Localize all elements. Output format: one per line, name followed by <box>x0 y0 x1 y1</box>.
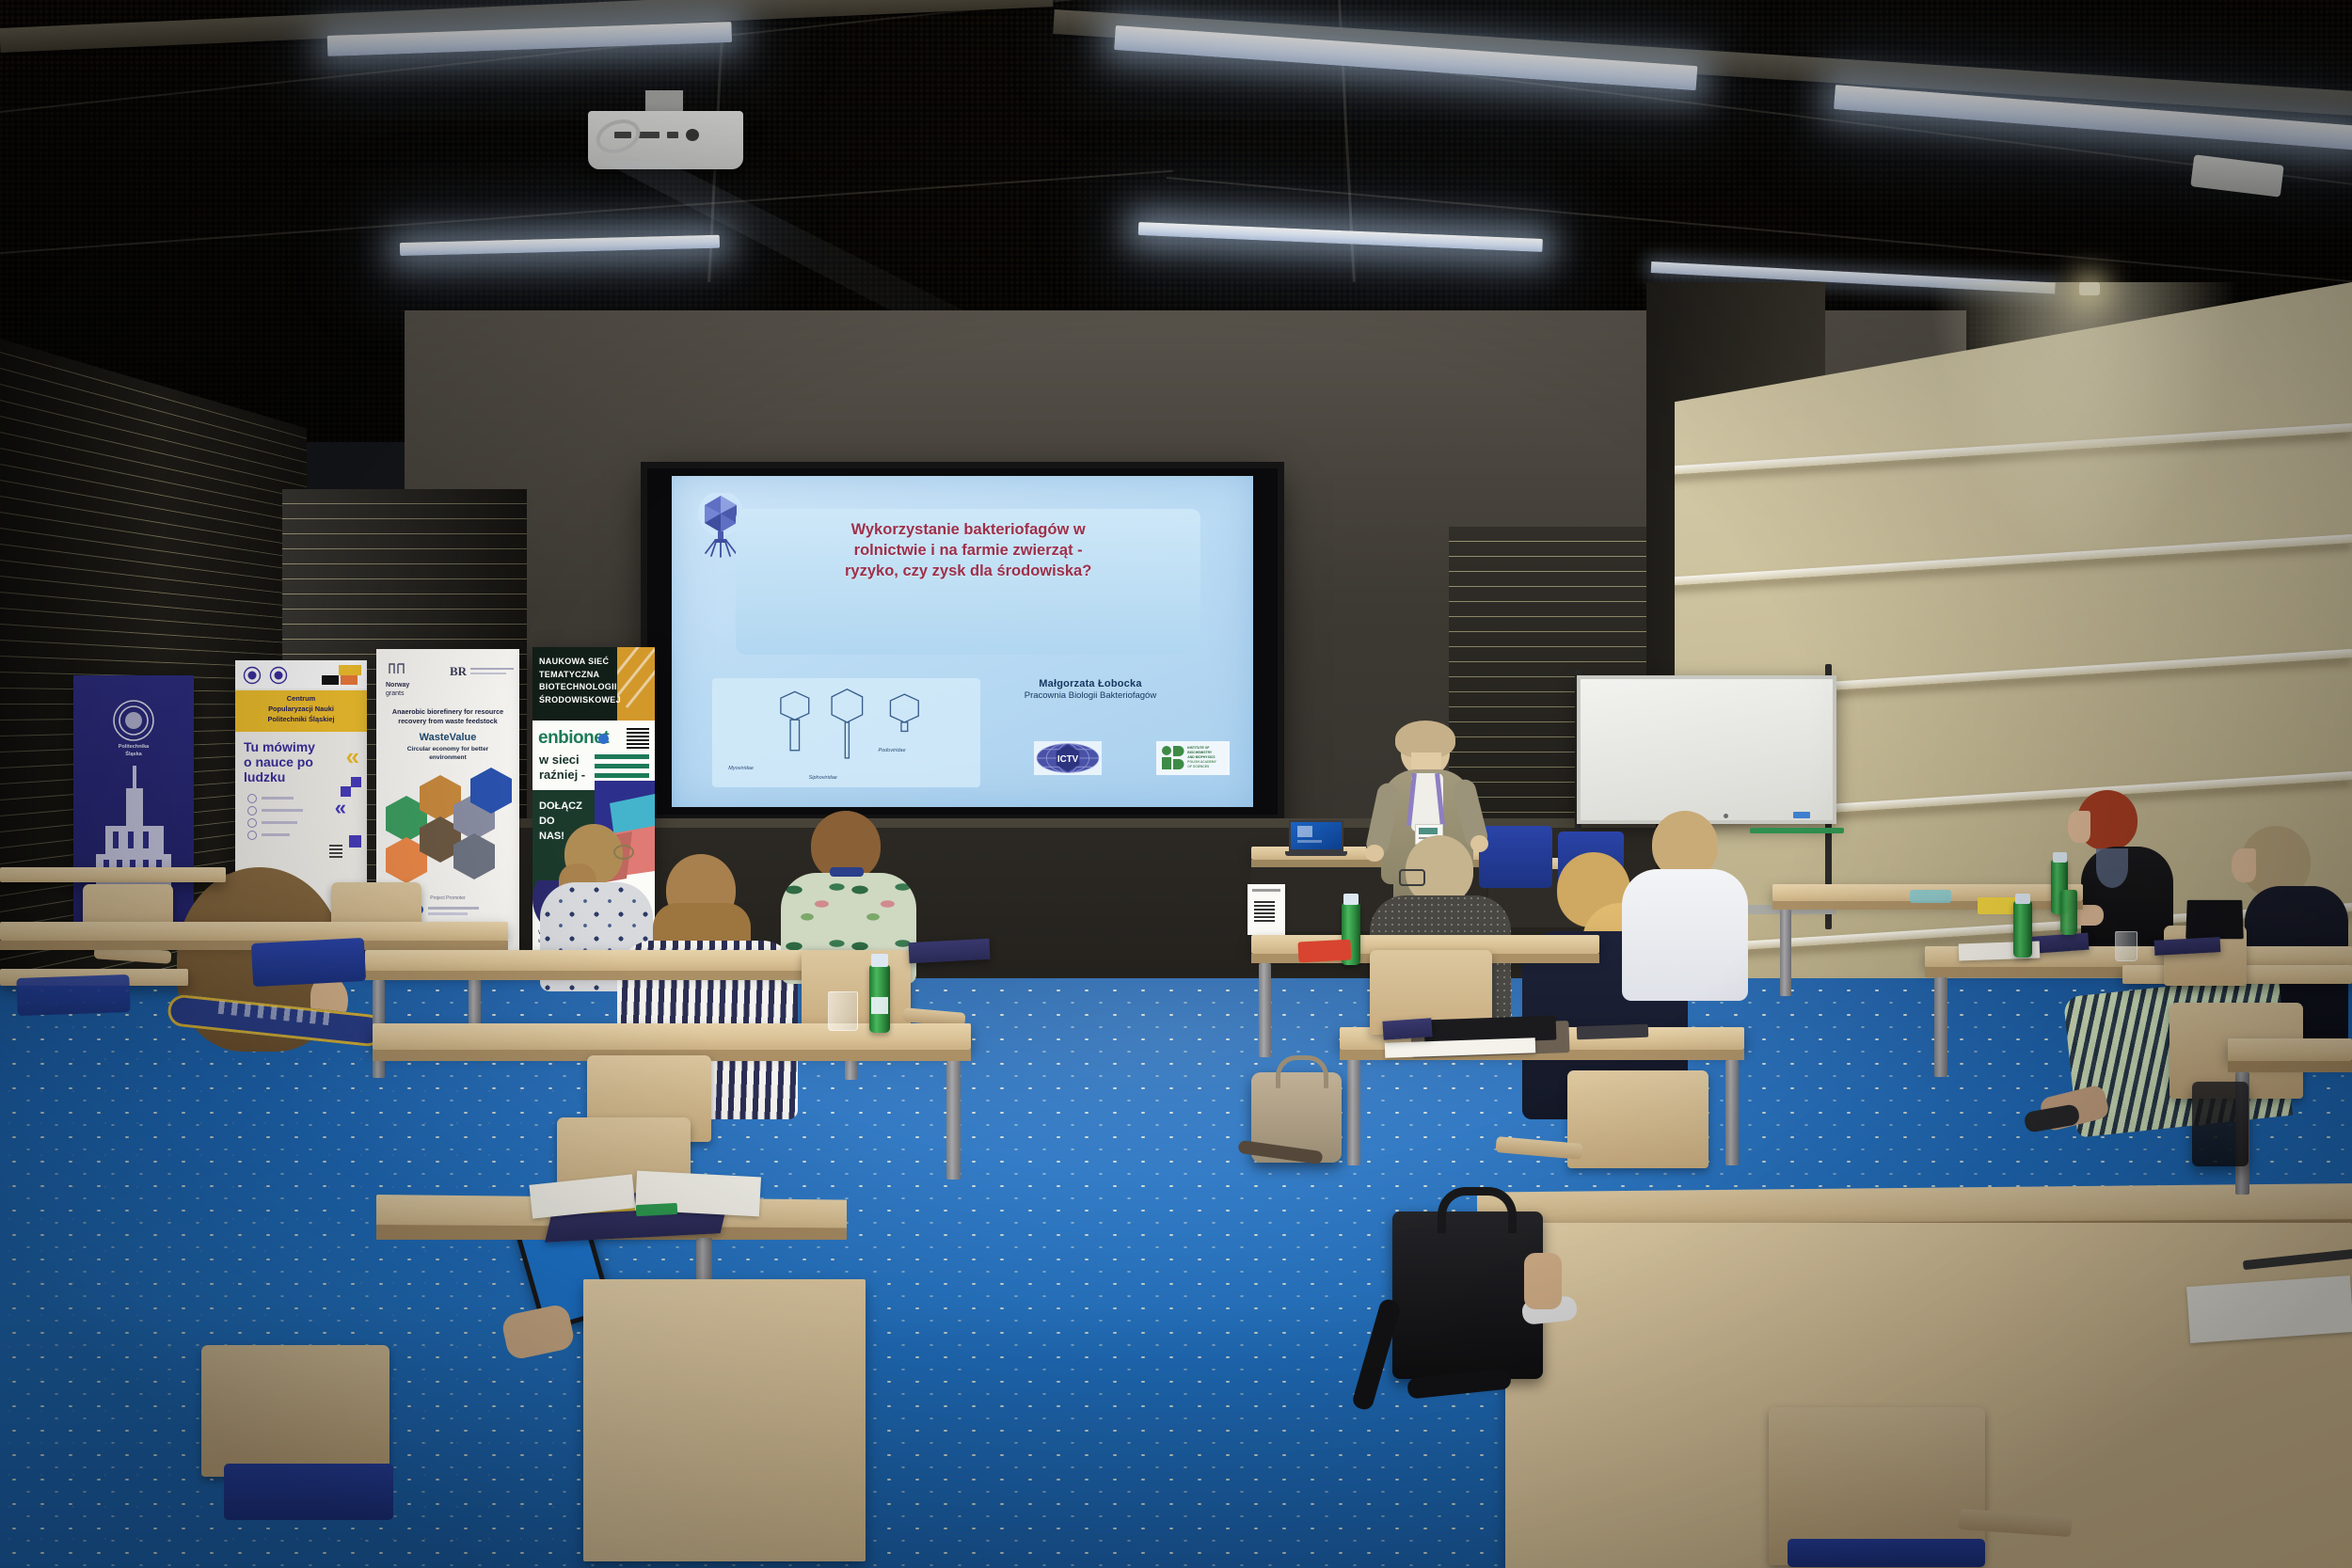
slide-affiliation: Pracownia Biologii Bakteriofagów <box>957 690 1224 701</box>
projector-mount <box>645 90 683 113</box>
slide-title-line-1: Wykorzystanie bakteriofagów w <box>747 519 1189 540</box>
table-foreground-left-top <box>583 1279 866 1561</box>
table-leg <box>1259 963 1271 1057</box>
banner-enb-stripes <box>617 647 655 721</box>
water-bottle-right-3 <box>2060 890 2077 935</box>
table-leg <box>1780 910 1791 996</box>
conference-room-photo: Wykorzystanie bakteriofagów w rolnictwie… <box>0 0 2352 1568</box>
table-leg <box>946 1061 961 1180</box>
table-leg <box>1347 1060 1360 1165</box>
attendee-leg <box>1524 1253 1562 1309</box>
ibb-logo: INSTITUTE OF BIOCHEMISTRY AND BIOPHYSICS… <box>1156 741 1230 775</box>
banner-waste-subtitle: Circular economy for better environment <box>384 745 512 762</box>
svg-text:ICTV: ICTV <box>1057 754 1079 765</box>
norway-grants-icon <box>386 660 412 679</box>
table-leg <box>1725 1060 1739 1165</box>
dark-item <box>1577 1024 1648 1040</box>
banner-cpn-contact-lines <box>246 794 320 843</box>
teal-item <box>1910 890 1951 903</box>
wall-uplight <box>2079 282 2100 295</box>
enbionet-dot-icon <box>598 734 609 744</box>
green-ticket <box>636 1203 678 1216</box>
chair-seat-blue <box>1788 1539 1985 1567</box>
chevron-left-icon: « <box>346 747 359 767</box>
presenter-hand-right <box>1470 835 1488 852</box>
wall-light-glow <box>1929 282 2239 564</box>
screen-surface: Wykorzystanie bakteriofagów w rolnictwie… <box>672 476 1253 807</box>
table-back-left <box>0 867 226 882</box>
slide-title: Wykorzystanie bakteriofagów w rolnictwie… <box>747 519 1189 582</box>
slide-diagram-box: Myoviridae Siphoviridae Podoviridae <box>712 678 979 787</box>
banner-waste-hexagon-collage <box>382 764 514 886</box>
backpack-handle <box>1438 1187 1517 1233</box>
conference-folder-center <box>1382 1018 1432 1040</box>
backpack <box>1392 1212 1543 1379</box>
water-bottle-right-2 <box>2013 901 2032 958</box>
table-row-left <box>0 922 508 941</box>
drinking-glass-left <box>828 991 858 1031</box>
ibb-line-5: OF SCIENCES <box>1187 765 1216 769</box>
attendee-lanyard <box>2096 848 2128 888</box>
pol-logo-small-icon <box>243 666 262 685</box>
slide-title-line-2: rolnictwie i na farmie zwierząt - <box>747 540 1189 561</box>
presenter-hand-left <box>1365 845 1384 862</box>
banner-waste-funder: Norway grants <box>386 681 409 699</box>
chair-foreground-left <box>201 1345 389 1477</box>
conference-folder-left-mid <box>908 939 990 963</box>
table-edge <box>2228 1061 2352 1072</box>
table-left-mid <box>365 950 866 971</box>
banner-waste-headline: Anaerobic biorefinery for resource recov… <box>384 707 512 726</box>
laptop-screen <box>1289 820 1343 851</box>
banner-cpn-slogan: Tu mówimy o nauce po ludzku <box>244 739 334 784</box>
paper-on-table <box>2186 1275 2352 1343</box>
chair-blue-left <box>251 938 366 987</box>
whiteboard-marker <box>1750 828 1844 833</box>
slide-author-name: Małgorzata Łobocka <box>957 678 1224 689</box>
phage-morphology-diagram <box>739 687 980 763</box>
attendee-white-shirt <box>1622 869 1748 1001</box>
bottle-cap <box>871 954 888 967</box>
bag-right <box>2192 1082 2249 1166</box>
qr-code-icon <box>329 845 342 858</box>
bottle-cap <box>2053 852 2067 863</box>
projector <box>588 111 743 169</box>
chair-foreground-seat <box>224 1464 393 1520</box>
drinking-glass <box>2115 931 2137 961</box>
slide-title-line-3: ryzyko, czy zysk dla środowiska? <box>747 561 1189 581</box>
pol-logo-small-icon-2 <box>269 666 288 685</box>
attendee-face-profile <box>2068 811 2090 843</box>
whiteboard <box>1577 675 1836 824</box>
bottle-cap <box>1343 894 1359 905</box>
presentation-slide: Wykorzystanie bakteriofagów w rolnictwie… <box>672 476 1253 807</box>
laptop-base <box>1285 851 1347 856</box>
bottle-cap <box>2015 894 2030 904</box>
glasses-icon <box>613 845 634 860</box>
slide-author-block: Małgorzata Łobocka Pracownia Biologii Ba… <box>957 678 1224 701</box>
phage-label-siphoviridae: Siphoviridae <box>809 775 837 781</box>
qr-code-icon <box>627 726 649 749</box>
chevron-left-icon-2: « <box>335 800 346 816</box>
phage-label-myoviridae: Myoviridae <box>728 766 754 771</box>
chair-center-2 <box>1567 1070 1708 1168</box>
banner-enb-tagline: w sieci raźniej - <box>539 752 585 783</box>
bottle-label <box>871 997 888 1014</box>
chair-blue-stage <box>1479 826 1552 888</box>
table-leg <box>1934 977 1947 1077</box>
ictv-logo: ICTV <box>1034 741 1102 775</box>
phage-label-podoviridae: Podoviridae <box>878 748 905 753</box>
banner-waste-partner-mark: BR <box>450 664 467 679</box>
chair-blue-left-2 <box>16 974 130 1016</box>
banner-enb-heading: NAUKOWA SIEĆ TEMATYCZNA BIOTECHNOLOGII Ś… <box>539 656 621 706</box>
table-edge <box>365 971 866 980</box>
attendee-lanyard <box>830 867 864 877</box>
banner-waste-project-name: WasteValue <box>384 732 512 743</box>
projection-screen: Wykorzystanie bakteriofagów w rolnictwie… <box>647 468 1278 856</box>
handbag-handle <box>1276 1055 1328 1088</box>
banner-cpn-heading: Centrum Popularyzacji Nauki Politechniki… <box>235 693 367 724</box>
attendee-laptop <box>2185 900 2244 939</box>
banner-politechnika-label: Politechnika Śląska <box>73 744 194 758</box>
table-sign-qr <box>1248 884 1285 935</box>
table-right-front <box>2228 1038 2352 1061</box>
glasses-icon <box>1399 869 1425 886</box>
red-notebook <box>1297 940 1351 963</box>
attendee-face-profile <box>2232 848 2256 882</box>
presenter-laptop <box>1289 820 1343 856</box>
whiteboard-eraser <box>1793 812 1810 818</box>
qr-code-icon <box>1254 901 1275 922</box>
